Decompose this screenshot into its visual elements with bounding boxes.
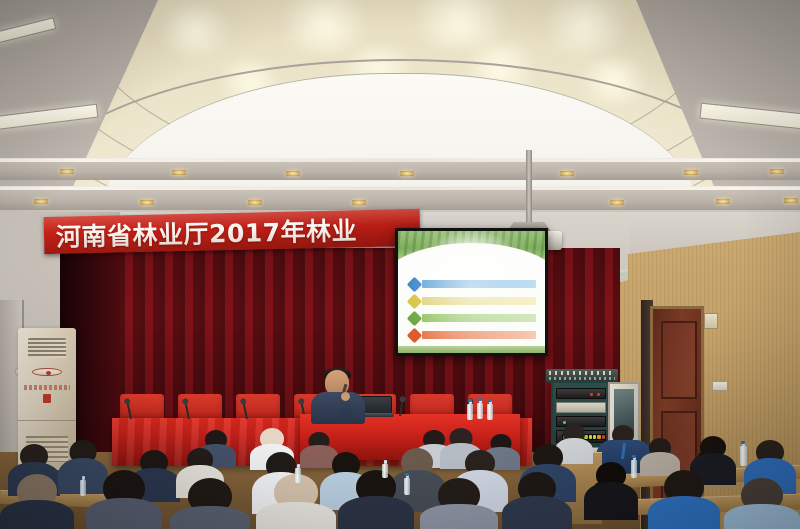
person-shoulders [584,482,638,520]
person-shoulders [724,504,800,529]
water-bottle [487,404,493,420]
banner-text: 河南省林业厅2017年林业 [44,211,358,254]
rack-unit-player[interactable] [556,402,606,413]
presenter-hand [341,392,350,401]
projection-screen [395,228,548,356]
person-shoulders [256,502,336,529]
door-panel-upper [661,321,697,399]
downlight [716,199,730,204]
audience-person [420,478,498,529]
person-shoulders [420,504,498,529]
downlight [684,170,698,175]
list-item [409,279,536,289]
conference-room-photo: 河南省林业厅2017年林业 EPSON [0,0,800,529]
audience-person [338,470,414,529]
downlight [560,171,574,176]
audience-person [724,478,800,529]
ac-logo-dot-icon [46,371,51,375]
slide-bullet-rows [409,279,536,340]
downlight [60,169,74,174]
bullet-bar [422,297,536,305]
person-shoulders [502,496,572,529]
list-item [409,296,536,306]
status-led-icon [590,393,593,396]
bullet-diamond-icon [407,276,423,292]
water-bottle [382,464,388,478]
ceiling-beam-upper [0,158,800,180]
downlight [770,169,784,174]
beam-lip [0,159,800,162]
bullet-bar [422,314,536,322]
water-bottle [295,468,301,483]
person-shoulders [0,500,74,529]
beam-lip [0,187,800,190]
person-shoulders [338,496,414,529]
light-switch-plate[interactable] [712,381,728,391]
bullet-bar [422,280,536,288]
water-bottle [467,404,473,420]
water-bottle [477,403,483,419]
audience-person [648,470,720,529]
ceiling-beam-lower [0,186,800,210]
list-item [409,330,536,340]
downlight [140,200,154,205]
ac-vent-grille-icon [28,338,66,358]
ceiling-light-bloom [150,6,240,56]
status-led-icon [597,393,600,396]
audience-person [170,478,250,529]
bullet-bar [422,331,536,339]
ac-brand-text [24,385,70,390]
audience-person [584,462,638,516]
water-bottle [80,480,86,496]
rack-unit-amplifier[interactable] [556,388,606,399]
downlight [248,200,262,205]
downlight [352,200,366,205]
door-sign-plaque [704,313,718,329]
downlight [172,170,186,175]
downlight [400,171,414,176]
downlight [286,171,300,176]
water-bottle [740,446,747,466]
list-item [409,313,536,323]
bullet-diamond-icon [407,327,423,343]
slide-footer-band [398,346,545,353]
audience-person [0,474,74,529]
mixer-knob-row-bottom[interactable] [549,377,615,380]
bullet-diamond-icon [407,293,423,309]
water-bottle [631,460,637,478]
ceiling [0,0,800,215]
ac-badge-icon [43,394,51,403]
person-shoulders [170,506,250,529]
person-shoulders [648,496,720,529]
slide-content [398,231,545,353]
presenter-speaker [305,370,375,422]
person-shoulders [86,498,162,529]
audience-person [86,470,162,529]
downlight [34,199,48,204]
downlight [784,198,798,203]
ac-brand-logo [32,368,62,376]
bullet-diamond-icon [407,310,423,326]
mixer-knob-row-top[interactable] [549,371,615,375]
ac-panel-seam [18,420,76,421]
audience-person [640,438,680,474]
water-bottle [404,478,410,495]
projector-mount-pole [526,150,532,228]
downlight [610,200,624,205]
audience-person [502,472,572,529]
